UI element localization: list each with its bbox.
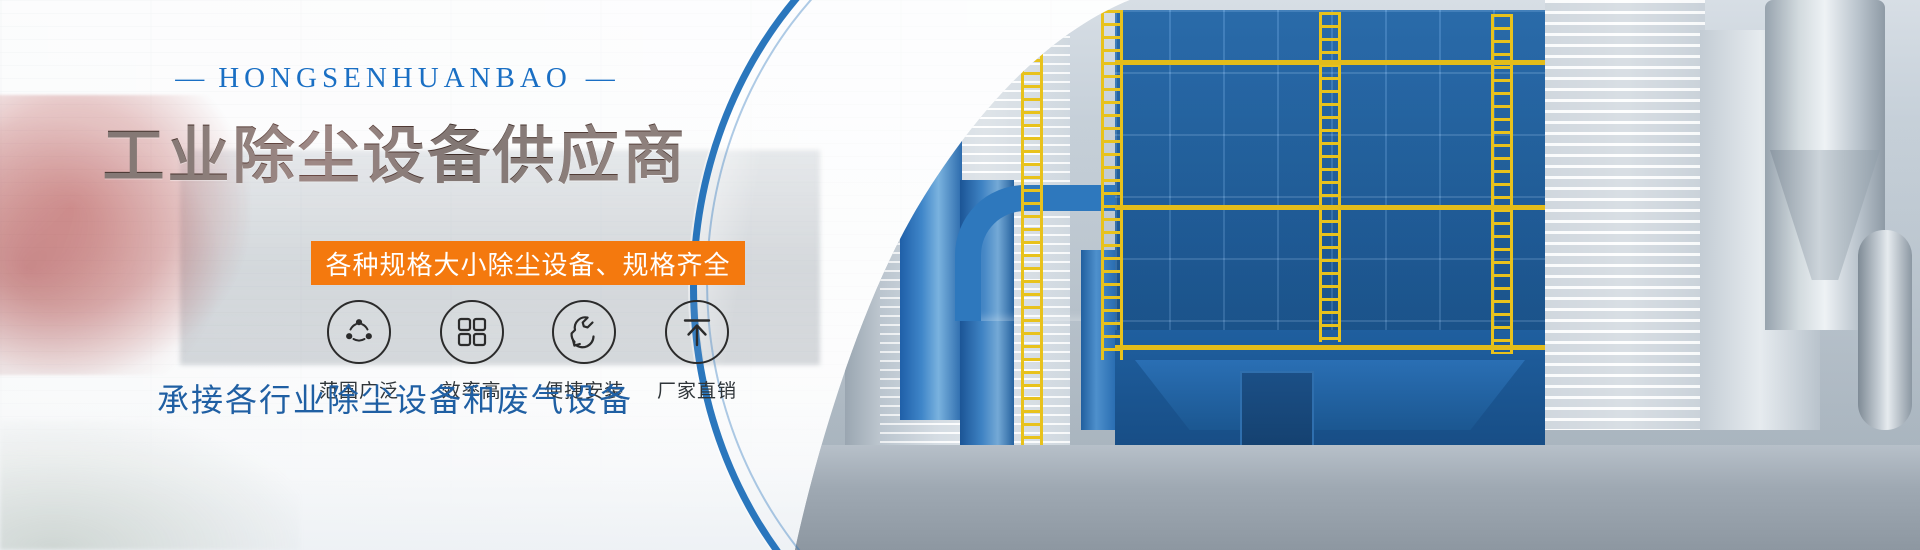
eyebrow-text: HONGSENHUANBAO — [218, 62, 572, 94]
yellow-rail-mid — [1115, 205, 1545, 210]
yellow-ladder-right — [1491, 14, 1513, 354]
hero-banner: —HONGSENHUANBAO— 工业除尘设备供应商 各种规格大小除尘设备、规格… — [0, 0, 1920, 550]
feature-icon-circle — [440, 300, 504, 364]
right-metal-pipe — [1858, 230, 1912, 430]
wrench-rotate-icon — [567, 315, 601, 349]
eyebrow-dash-left: — — [175, 62, 204, 95]
brand-eyebrow: —HONGSENHUANBAO— — [0, 62, 790, 95]
yellow-rail-low — [1115, 345, 1545, 350]
eyebrow-dash-right: — — [586, 62, 615, 95]
blue-hopper — [1135, 360, 1525, 430]
banner-tagline: 承接各行业除尘设备和废气设备 — [0, 375, 790, 421]
share-nodes-icon — [342, 315, 376, 349]
yellow-rail-top — [1115, 60, 1545, 65]
orange-highlight-bar: 各种规格大小除尘设备、规格齐全 — [311, 241, 745, 285]
yellow-ladder-left — [1021, 20, 1043, 450]
feature-icon-circle — [552, 300, 616, 364]
equipment-access-door — [1240, 371, 1314, 455]
banner-content: —HONGSENHUANBAO— 工业除尘设备供应商 各种规格大小除尘设备、规格… — [0, 0, 840, 550]
page-title: 工业除尘设备供应商 — [0, 105, 790, 195]
right-building-one — [1545, 0, 1705, 430]
feature-icon-circle — [665, 300, 729, 364]
upload-arrow-icon — [681, 316, 713, 348]
feature-icon-circle — [327, 300, 391, 364]
orange-bar-text: 各种规格大小除尘设备、规格齐全 — [325, 245, 730, 282]
grid-four-icon — [456, 316, 488, 348]
photo-ground — [785, 445, 1920, 550]
